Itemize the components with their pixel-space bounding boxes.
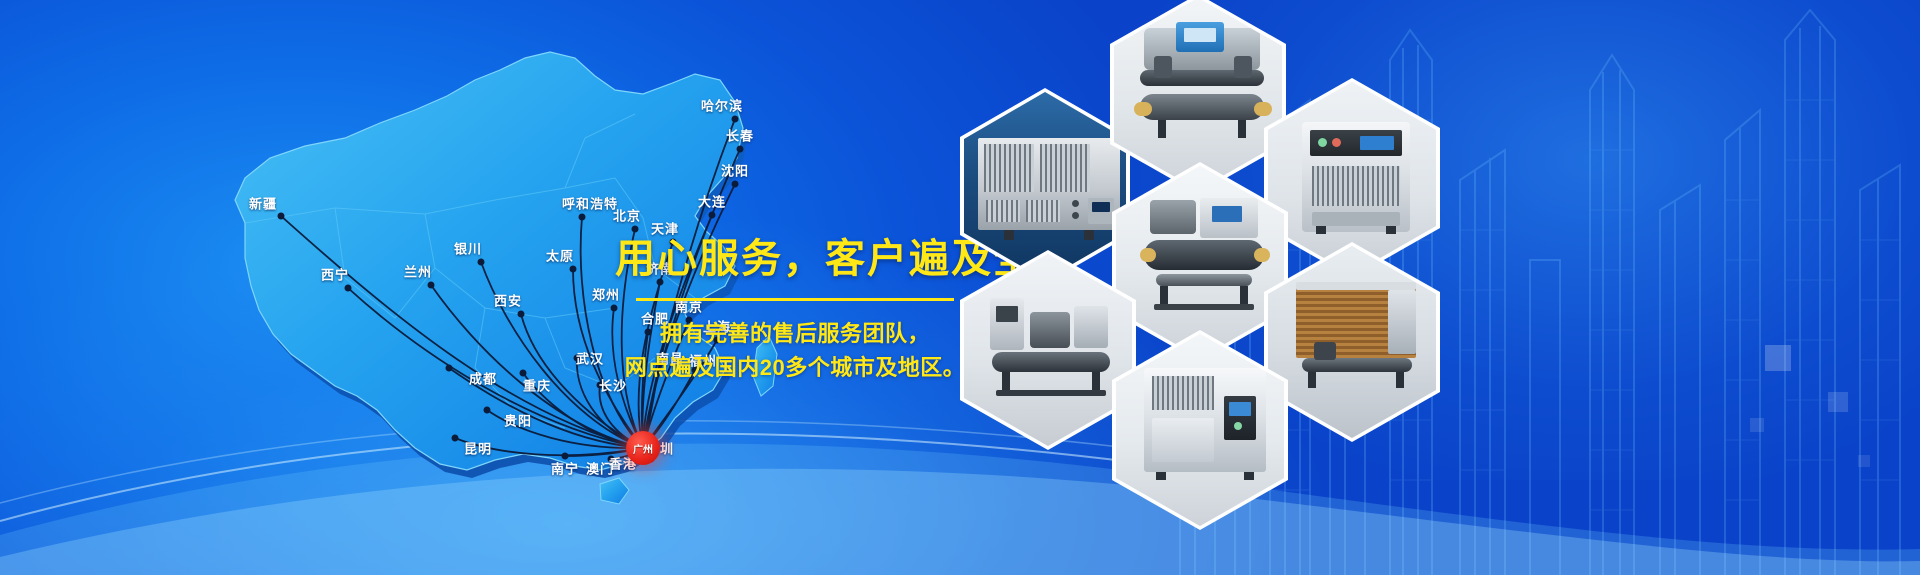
hex-frame xyxy=(1268,246,1436,438)
city-dot[interactable] xyxy=(737,146,744,153)
decor-square-4 xyxy=(1858,455,1870,467)
city-label: 成都 xyxy=(469,369,497,388)
banner-text-block: 用心服务，客户遍及全国 拥有完善的售后服务团队， 网点遍及国内20多个城市及地区… xyxy=(615,236,975,385)
city-dot[interactable] xyxy=(570,266,577,273)
product-hex-low-temp-chiller-unit[interactable] xyxy=(960,250,1136,450)
promo-banner: 新疆西宁兰州银川呼和浩特北京天津大连沈阳长春哈尔滨太原西安郑州济南合肥南京上海武… xyxy=(0,0,1920,575)
city-label: 沈阳 xyxy=(721,161,749,180)
city-dot[interactable] xyxy=(452,435,459,442)
product-photo-screw-compressor-unit xyxy=(1116,166,1284,358)
city-label: 西安 xyxy=(494,291,522,310)
city-label: 贵阳 xyxy=(504,411,532,430)
city-label: 哈尔滨 xyxy=(701,96,743,115)
banner-subtitle-line-2: 网点遍及国内20多个城市及地区。 xyxy=(615,351,975,385)
hex-frame xyxy=(1116,334,1284,526)
city-label: 银川 xyxy=(454,239,482,258)
product-hex-condenser-coil-chiller[interactable] xyxy=(1264,242,1440,442)
hex-frame xyxy=(1116,166,1284,358)
city-dot[interactable] xyxy=(709,212,716,219)
city-dot[interactable] xyxy=(579,214,586,221)
city-dot[interactable] xyxy=(446,365,453,372)
city-label: 昆明 xyxy=(464,439,492,458)
decor-square-1 xyxy=(1765,345,1791,371)
city-label: 重庆 xyxy=(523,376,551,395)
city-dot[interactable] xyxy=(732,181,739,188)
hex-frame xyxy=(964,254,1132,446)
city-label: 兰州 xyxy=(404,262,432,281)
city-dot[interactable] xyxy=(732,116,739,123)
city-label: 武汉 xyxy=(576,349,604,368)
city-label: 天津 xyxy=(651,219,679,238)
city-label: 呼和浩特 xyxy=(562,194,618,213)
city-dot[interactable] xyxy=(632,226,639,233)
product-photo-water-cooled-screw-chiller xyxy=(1114,0,1282,190)
product-photo-box-type-chiller xyxy=(1116,334,1284,526)
banner-subtitle: 拥有完善的售后服务团队， 网点遍及国内20多个城市及地区。 xyxy=(615,317,975,385)
city-label: 新疆 xyxy=(249,194,277,213)
hub-marker-guangzhou[interactable]: 广州 xyxy=(626,431,660,465)
product-hex-box-type-chiller[interactable] xyxy=(1112,330,1288,530)
city-label: 北京 xyxy=(613,206,641,225)
hub-label: 广州 xyxy=(633,441,653,456)
city-dot[interactable] xyxy=(518,311,525,318)
city-dot[interactable] xyxy=(278,213,285,220)
banner-subtitle-line-1: 拥有完善的售后服务团队， xyxy=(615,317,975,351)
city-label: 大连 xyxy=(698,192,726,211)
city-label: 太原 xyxy=(546,246,574,265)
product-photo-condenser-coil-chiller xyxy=(1268,246,1436,438)
city-dot[interactable] xyxy=(428,282,435,289)
city-label: 长春 xyxy=(726,126,754,145)
hex-frame xyxy=(1114,0,1282,190)
banner-headline: 用心服务，客户遍及全国 xyxy=(615,236,975,282)
product-photo-low-temp-chiller-unit xyxy=(964,254,1132,446)
headline-divider xyxy=(636,298,954,301)
decor-square-2 xyxy=(1828,392,1848,412)
city-label: 南宁 xyxy=(551,459,579,478)
product-hexagon-cluster xyxy=(960,0,1520,575)
city-dot[interactable] xyxy=(478,259,485,266)
city-dot[interactable] xyxy=(345,285,352,292)
city-dot[interactable] xyxy=(484,407,491,414)
decor-square-3 xyxy=(1750,418,1764,432)
city-label: 西宁 xyxy=(321,265,349,284)
